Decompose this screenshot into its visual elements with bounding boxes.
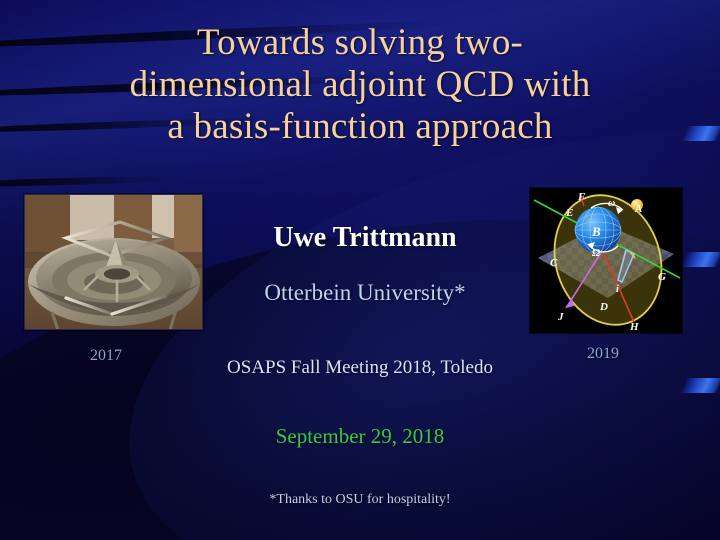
orbit-label-i: i — [616, 284, 619, 295]
orbit-label-H: H — [629, 321, 639, 333]
orbit-label-C: C — [550, 257, 558, 269]
orbit-label-omega-small: ω — [608, 198, 615, 209]
metal-apparatus-illustration — [24, 194, 203, 330]
orbit-label-D: D — [599, 301, 608, 313]
orbit-label-B: B — [591, 224, 601, 239]
orbit-label-F: F — [577, 191, 586, 203]
orbit-label-E: E — [565, 207, 573, 219]
orbit-label-A: A — [634, 203, 642, 215]
title-line-3: a basis-function approach — [40, 106, 680, 148]
acknowledgement-footnote: *Thanks to OSU for hospitality! — [110, 492, 610, 508]
author-affiliation: Otterbein University* — [210, 280, 520, 306]
meeting-venue-text: OSAPS Fall Meeting 2018, Toledo — [90, 357, 630, 379]
orbit-label-omega-capital: Ω — [592, 247, 601, 259]
orbital-elements-illustration: A B C D E F G H J i ω Ω — [530, 188, 682, 333]
presentation-slide: Towards solving two- dimensional adjoint… — [0, 0, 720, 540]
orbit-label-G: G — [658, 271, 666, 283]
title-line-2: dimensional adjoint QCD with — [40, 64, 680, 106]
slide-title: Towards solving two- dimensional adjoint… — [40, 22, 680, 147]
author-name: Uwe Trittmann — [210, 222, 520, 254]
title-line-1: Towards solving two- — [40, 22, 680, 64]
presentation-date: September 29, 2018 — [110, 424, 610, 449]
orbital-elements-diagram: A B C D E F G H J i ω Ω — [530, 188, 682, 333]
metal-apparatus-photo — [24, 194, 203, 330]
orbit-label-J: J — [557, 311, 564, 323]
